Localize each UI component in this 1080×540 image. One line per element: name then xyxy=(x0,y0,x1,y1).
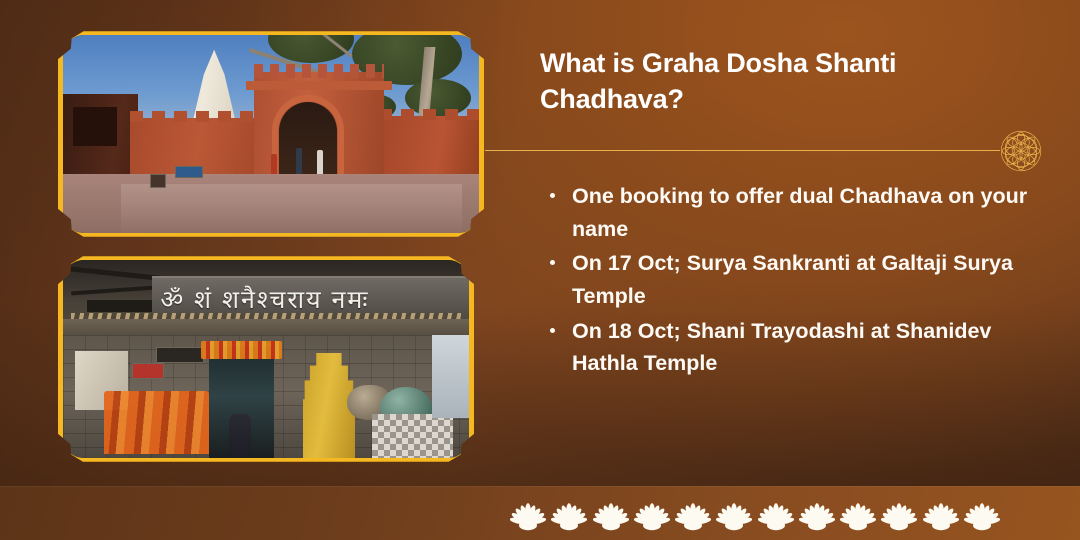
lotus-motif-icon xyxy=(551,502,587,532)
shrine-mantra-text: ॐ शं शनैश्चराय नमः xyxy=(160,282,369,316)
gateway-crenellation xyxy=(254,64,384,78)
marigold-garland xyxy=(201,341,282,359)
lotus-motif-icon xyxy=(881,502,917,532)
wall-notice xyxy=(156,347,204,363)
gateway-arch xyxy=(279,102,337,174)
lotus-motif-icon xyxy=(758,502,794,532)
list-item: One booking to offer dual Chadhava on yo… xyxy=(540,180,1040,245)
fort-merlons-right xyxy=(379,109,479,120)
temple-gate-photo-inner xyxy=(63,35,479,233)
lotus-motif-icon xyxy=(510,502,546,532)
fort-merlons-left xyxy=(130,111,255,122)
lotus-motif-icon xyxy=(964,502,1000,532)
slide-canvas: ॐ शं शनैश्चराय नमः What is Graha Dosha S… xyxy=(0,0,1080,540)
list-item: On 17 Oct; Surya Sankranti at Galtaji Su… xyxy=(540,247,1040,312)
wall-notice xyxy=(132,363,164,379)
lotus-motif-icon xyxy=(840,502,876,532)
window-daylight xyxy=(432,335,469,418)
lotus-motif-icon xyxy=(593,502,629,532)
shani-shrine-photo: ॐ शं शनैश्चराय नमः xyxy=(58,255,474,463)
mandala-rosette-icon xyxy=(995,125,1047,177)
left-dark-wall xyxy=(63,94,138,178)
title-divider xyxy=(485,150,1000,151)
devotee-figure xyxy=(229,414,251,458)
lotus-motif-icon xyxy=(923,502,959,532)
page-title: What is Graha Dosha Shanti Chadhava? xyxy=(540,46,1010,117)
lotus-motif-icon xyxy=(799,502,835,532)
visitor-figure xyxy=(296,148,302,174)
lotus-motif-icon xyxy=(716,502,752,532)
shani-shrine-photo-inner: ॐ शं शनैश्चराय नमः xyxy=(63,260,469,458)
feature-bullet-list: One booking to offer dual Chadhava on yo… xyxy=(540,180,1040,382)
fort-wall-right xyxy=(379,116,479,178)
roof-beam xyxy=(87,300,160,312)
courtyard-ground xyxy=(63,174,479,233)
wall-signboard xyxy=(175,166,203,178)
lotus-motif-icon xyxy=(675,502,711,532)
gateway-cornice xyxy=(246,81,392,90)
checkered-tile-floor xyxy=(372,414,453,458)
list-item: On 18 Oct; Shani Trayodashi at Shanidev … xyxy=(540,315,1040,380)
visitor-figure xyxy=(317,150,323,174)
lotus-border-ornament xyxy=(510,498,1000,532)
lotus-motif-icon xyxy=(634,502,670,532)
orange-idols xyxy=(104,391,210,454)
wall-signboard xyxy=(150,174,166,188)
temple-gate-photo xyxy=(58,30,484,238)
visitor-figure xyxy=(271,154,277,174)
